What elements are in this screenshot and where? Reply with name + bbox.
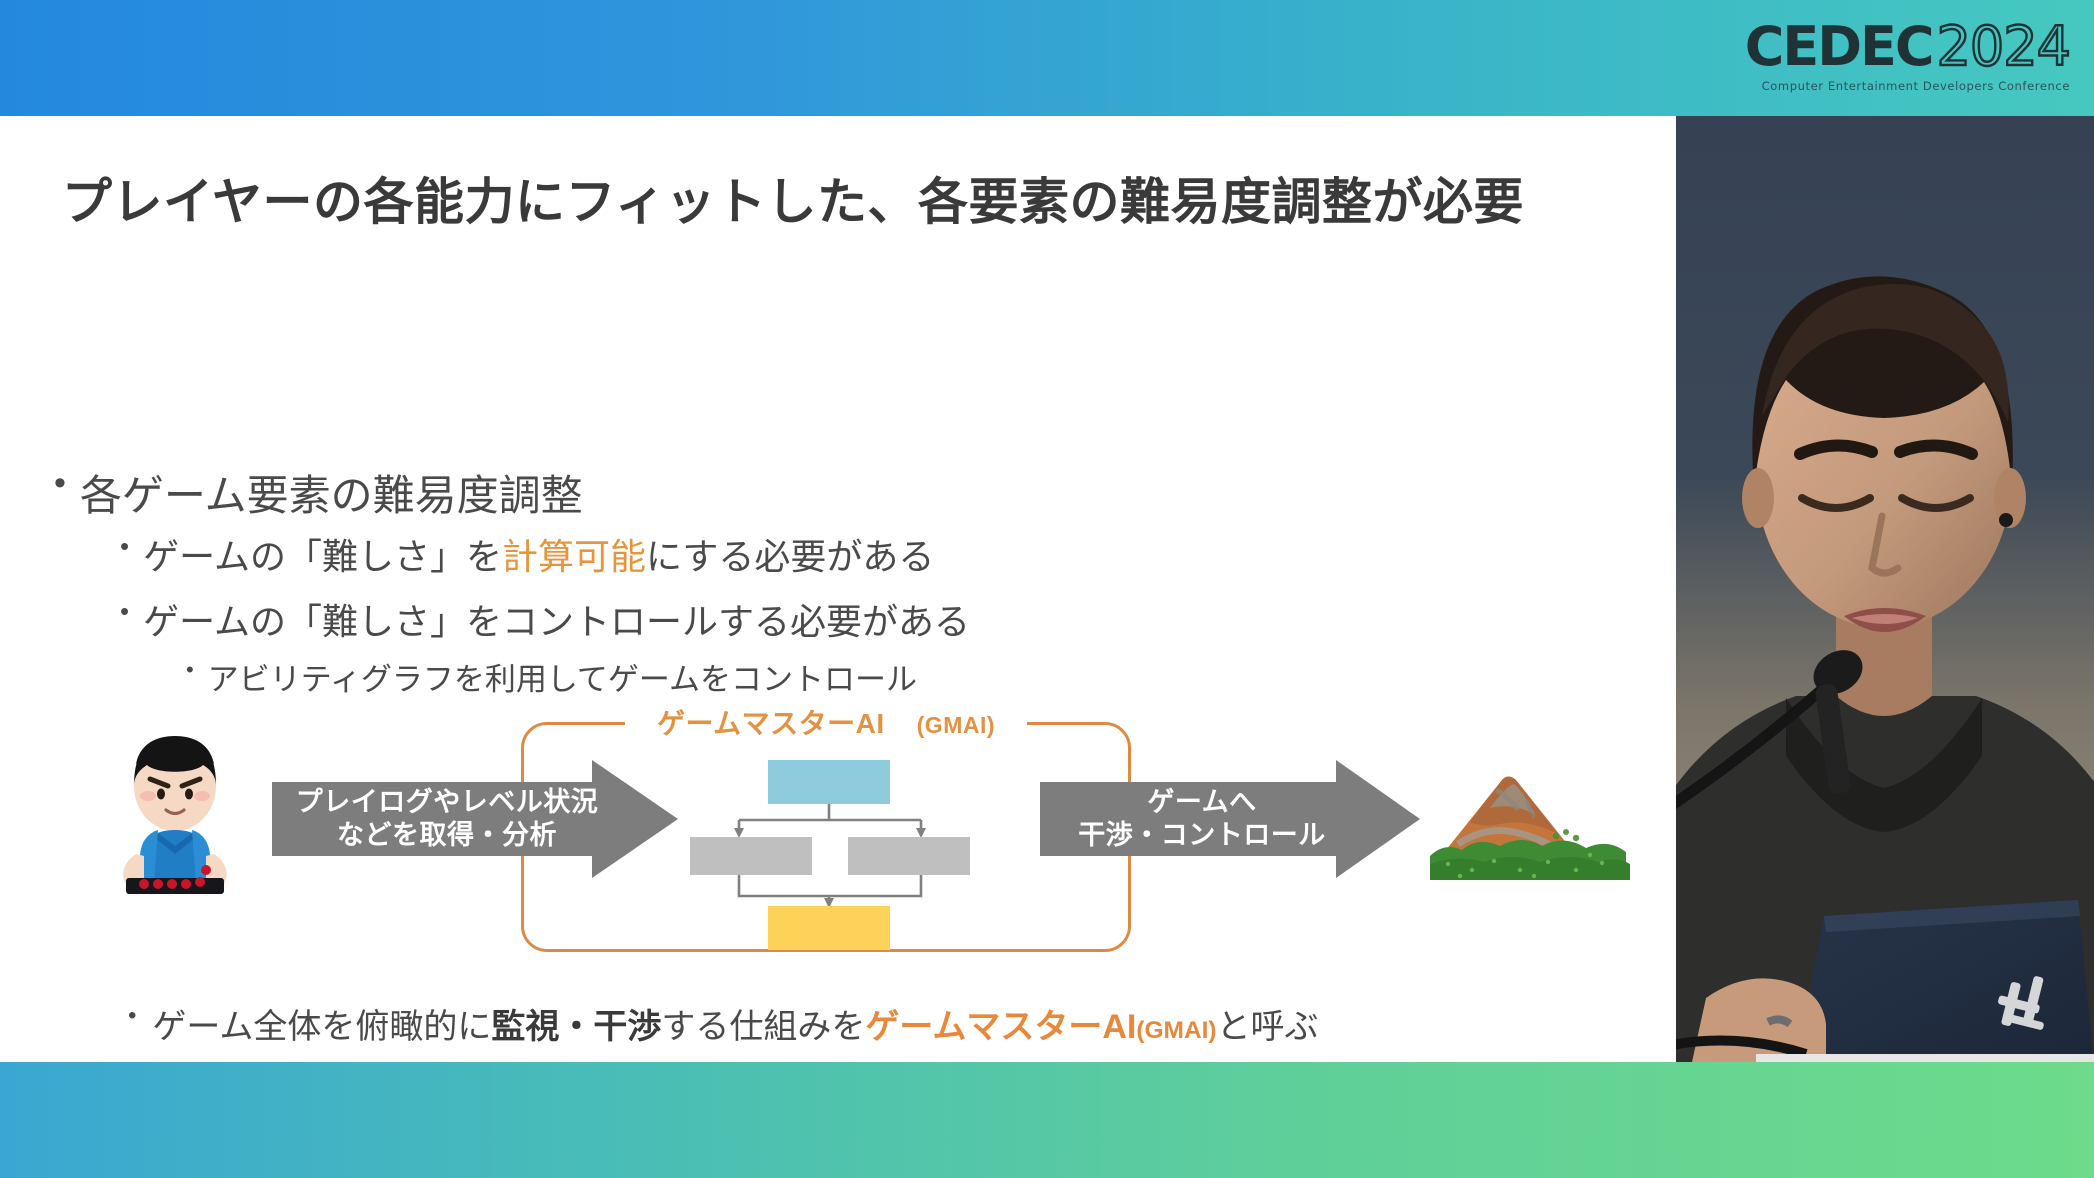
gmai-diagram: ゲームマスターAI(GMAI) プレイログやレベル状況 などを取得・分析 (0, 706, 1676, 976)
gmai-frame-label: ゲームマスターAI(GMAI) (521, 702, 1131, 742)
bullet-level2a-post: にする必要がある (646, 536, 934, 577)
flow-box-right (848, 837, 970, 875)
definition-post: と呼ぶ (1217, 1008, 1319, 1046)
top-conference-bar: CEDEC 2024 Computer Entertainment Develo… (0, 0, 2094, 116)
bullet-level2b-text: ゲームの「難しさ」をコントロールする必要がある (143, 593, 970, 645)
bullet-level1: • 各ゲーム要素の難易度調整 (54, 462, 583, 523)
bullet-definition: • ゲーム全体を俯瞰的に監視・干渉する仕組みをゲームマスターAI(GMAI)と呼… (128, 999, 1319, 1048)
bullet-level2a-pre: ゲームの「難しさ」を (143, 536, 502, 577)
bullet-dot-icon: • (120, 598, 129, 624)
gmai-label-paren: (GMAI) (901, 712, 1011, 738)
gmai-label-text: ゲームマスターAI (641, 708, 901, 739)
bullet-dot-icon: • (186, 659, 194, 681)
game-world-terrain-illustration (1430, 760, 1640, 880)
flow-box-left (690, 837, 812, 875)
flow-box-bottom (768, 906, 890, 950)
presentation-screen: CEDEC 2024 Computer Entertainment Develo… (0, 0, 2094, 1178)
slide-title: プレイヤーの各能力にフィットした、各要素の難易度調整が必要 (62, 162, 1622, 234)
logo-year-text: 2024 (1937, 20, 2070, 74)
speaker-video-feed (1676, 116, 2094, 1062)
bullet-level3: • アビリティグラフを利用してゲームをコントロール (186, 654, 917, 699)
bullet-level2a-highlight: 計算可能 (502, 536, 646, 577)
bullet-dot-icon: • (54, 466, 66, 500)
definition-pre: ゲーム全体を俯瞰的に (152, 1008, 491, 1046)
ability-graph-flowchart (690, 760, 970, 920)
player-illustration (100, 734, 250, 894)
bottom-conference-bar (0, 1062, 2094, 1178)
definition-bold: 監視・干渉 (491, 1008, 661, 1046)
bullet-level2-a: • ゲームの「難しさ」を計算可能にする必要がある (120, 528, 934, 580)
definition-highlight: ゲームマスターAI (865, 1008, 1136, 1046)
slide-canvas: プレイヤーの各能力にフィットした、各要素の難易度調整が必要 • 各ゲーム要素の難… (0, 116, 1676, 1062)
speaker-figure (1676, 116, 2094, 1062)
logo-subtitle: Computer Entertainment Developers Confer… (1762, 79, 2070, 93)
bullet-level2-b: • ゲームの「難しさ」をコントロールする必要がある (120, 593, 970, 645)
cedec-logo: CEDEC 2024 Computer Entertainment Develo… (1750, 14, 2070, 98)
arrow-output: ゲームへ 干渉・コントロール (1040, 760, 1420, 878)
definition-mid: する仕組みを (661, 1008, 865, 1046)
bullet-dot-icon: • (128, 1004, 136, 1028)
bullet-level1-text: 各ゲーム要素の難易度調整 (80, 462, 583, 523)
logo-cedec-text: CEDEC (1745, 20, 1933, 74)
bullet-dot-icon: • (120, 533, 129, 559)
flow-box-top (768, 760, 890, 804)
arrow-input: プレイログやレベル状況 などを取得・分析 (272, 760, 678, 878)
definition-highlight-paren: (GMAI) (1136, 1017, 1216, 1044)
bullet-level3-text: アビリティグラフを利用してゲームをコントロール (208, 654, 917, 699)
